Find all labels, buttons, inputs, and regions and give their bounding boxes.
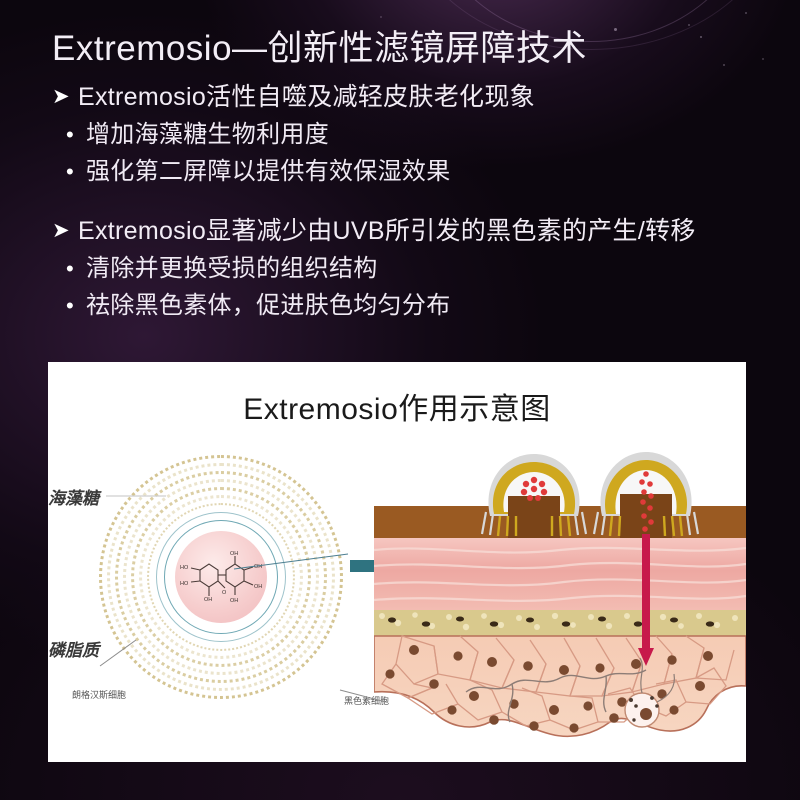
dot-bullet-icon: • [66, 116, 86, 153]
bullet-group: ➤ Extremosio显著减少由UVB所引发的黑色素的产生/转移 • 清除并更… [52, 212, 772, 324]
dot-bullet-icon: • [66, 250, 86, 287]
dot-bullet-icon: • [66, 287, 86, 324]
lead-bullet: ➤ Extremosio显著减少由UVB所引发的黑色素的产生/转移 [52, 212, 772, 250]
bullet-sections: ➤ Extremosio活性自噬及减轻皮肤老化现象 • 增加海藻糖生物利用度 •… [52, 78, 772, 346]
mechanism-diagram: HOHO OHO OHOH OHOH [48, 434, 746, 762]
label-phospholipid: 磷脂质 [48, 636, 99, 661]
svg-text:OH: OH [204, 597, 212, 603]
sub-bullet-text: 清除并更换受损的组织结构 [86, 250, 378, 287]
figure-panel-title: Extremosio作用示意图 [48, 384, 746, 428]
figure-panel: Extremosio作用示意图 [48, 362, 746, 762]
background-speck [380, 16, 382, 18]
poster-root: Extremosio—创新性滤镜屏障技术 ➤ Extremosio活性自噬及减轻… [0, 0, 800, 800]
molecule-structure-icon: HOHO OHO OHOH OHOH [178, 548, 264, 606]
label-langerhans-cell: 朗格汉斯细胞 [72, 688, 126, 701]
svg-text:HO: HO [180, 581, 189, 587]
background-speck [762, 58, 764, 60]
background-speck [723, 64, 725, 66]
skin-cross-section [374, 434, 746, 762]
liposome-diagram: HOHO OHO OHOH OHOH [100, 456, 342, 698]
lead-bullet-text: Extremosio显著减少由UVB所引发的黑色素的产生/转移 [78, 212, 696, 250]
sub-bullet: • 祛除黑色素体，促进肤色均匀分布 [66, 287, 772, 324]
svg-text:OH: OH [254, 564, 262, 570]
label-trehalose: 海藻糖 [48, 484, 99, 509]
lead-bullet: ➤ Extremosio活性自噬及减轻皮肤老化现象 [52, 78, 772, 116]
svg-text:O: O [222, 590, 227, 596]
background-speck [614, 28, 617, 31]
background-speck [688, 24, 690, 26]
sub-bullet-text: 增加海藻糖生物利用度 [86, 116, 329, 153]
bullet-group: ➤ Extremosio活性自噬及减轻皮肤老化现象 • 增加海藻糖生物利用度 •… [52, 78, 772, 190]
sub-bullet: • 增加海藻糖生物利用度 [66, 116, 772, 153]
svg-text:OH: OH [254, 584, 262, 590]
svg-text:OH: OH [230, 598, 238, 604]
sub-bullet-text: 强化第二屏障以提供有效保湿效果 [86, 153, 451, 190]
lead-bullet-text: Extremosio活性自噬及减轻皮肤老化现象 [78, 78, 535, 116]
sub-bullet: • 清除并更换受损的组织结构 [66, 250, 772, 287]
background-speck [700, 36, 702, 38]
dot-bullet-icon: • [66, 153, 86, 190]
arrow-bullet-icon: ➤ [52, 212, 78, 250]
svg-text:OH: OH [230, 551, 238, 557]
arrow-bullet-icon: ➤ [52, 78, 78, 116]
sub-bullet: • 强化第二屏障以提供有效保湿效果 [66, 153, 772, 190]
sub-bullet-text: 祛除黑色素体，促进肤色均匀分布 [86, 287, 451, 324]
page-title: Extremosio—创新性滤镜屏障技术 [52, 26, 587, 72]
label-melanocyte: 黑色素细胞 [344, 694, 389, 707]
background-speck [745, 12, 747, 14]
svg-text:HO: HO [180, 565, 189, 571]
